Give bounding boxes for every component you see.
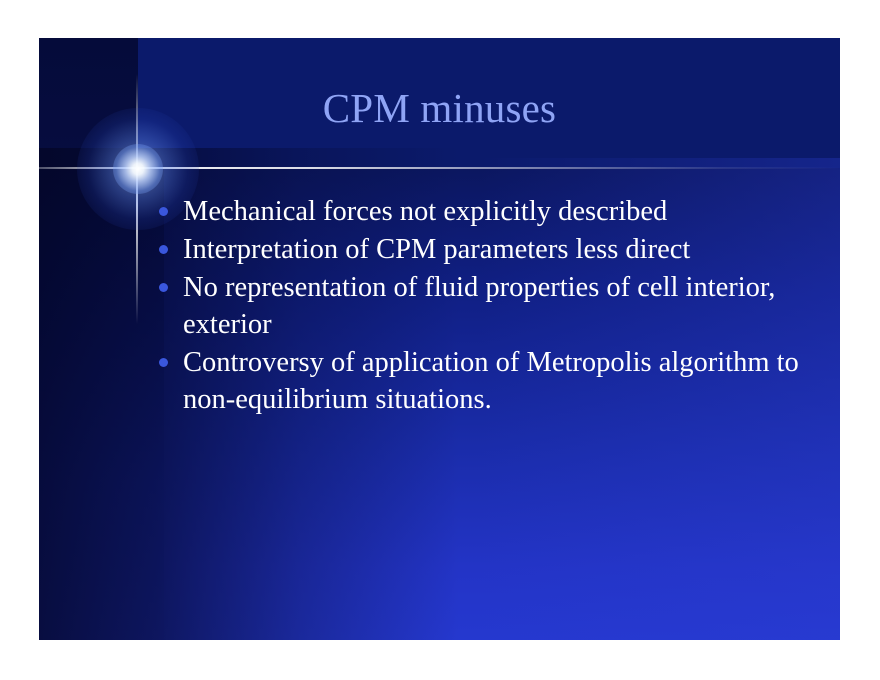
list-item: Controversy of application of Metropolis… (149, 344, 829, 418)
bullet-dot-icon (159, 245, 168, 254)
slide-title: CPM minuses (39, 86, 840, 131)
bullet-text: Interpretation of CPM parameters less di… (183, 231, 829, 268)
bullet-dot-icon (159, 358, 168, 367)
bullet-text: Controversy of application of Metropolis… (183, 344, 829, 418)
list-item: Interpretation of CPM parameters less di… (149, 231, 829, 268)
bullet-text: Mechanical forces not explicitly describ… (183, 193, 829, 230)
list-item: No representation of fluid properties of… (149, 269, 829, 343)
bullet-text: No representation of fluid properties of… (183, 269, 829, 343)
starburst-glow-inner-icon (113, 144, 163, 194)
slide-bullet-list: Mechanical forces not explicitly describ… (149, 193, 829, 419)
list-item: Mechanical forces not explicitly describ… (149, 193, 829, 230)
bullet-dot-icon (159, 283, 168, 292)
presentation-slide: CPM minuses Mechanical forces not explic… (39, 38, 840, 640)
bullet-dot-icon (159, 207, 168, 216)
